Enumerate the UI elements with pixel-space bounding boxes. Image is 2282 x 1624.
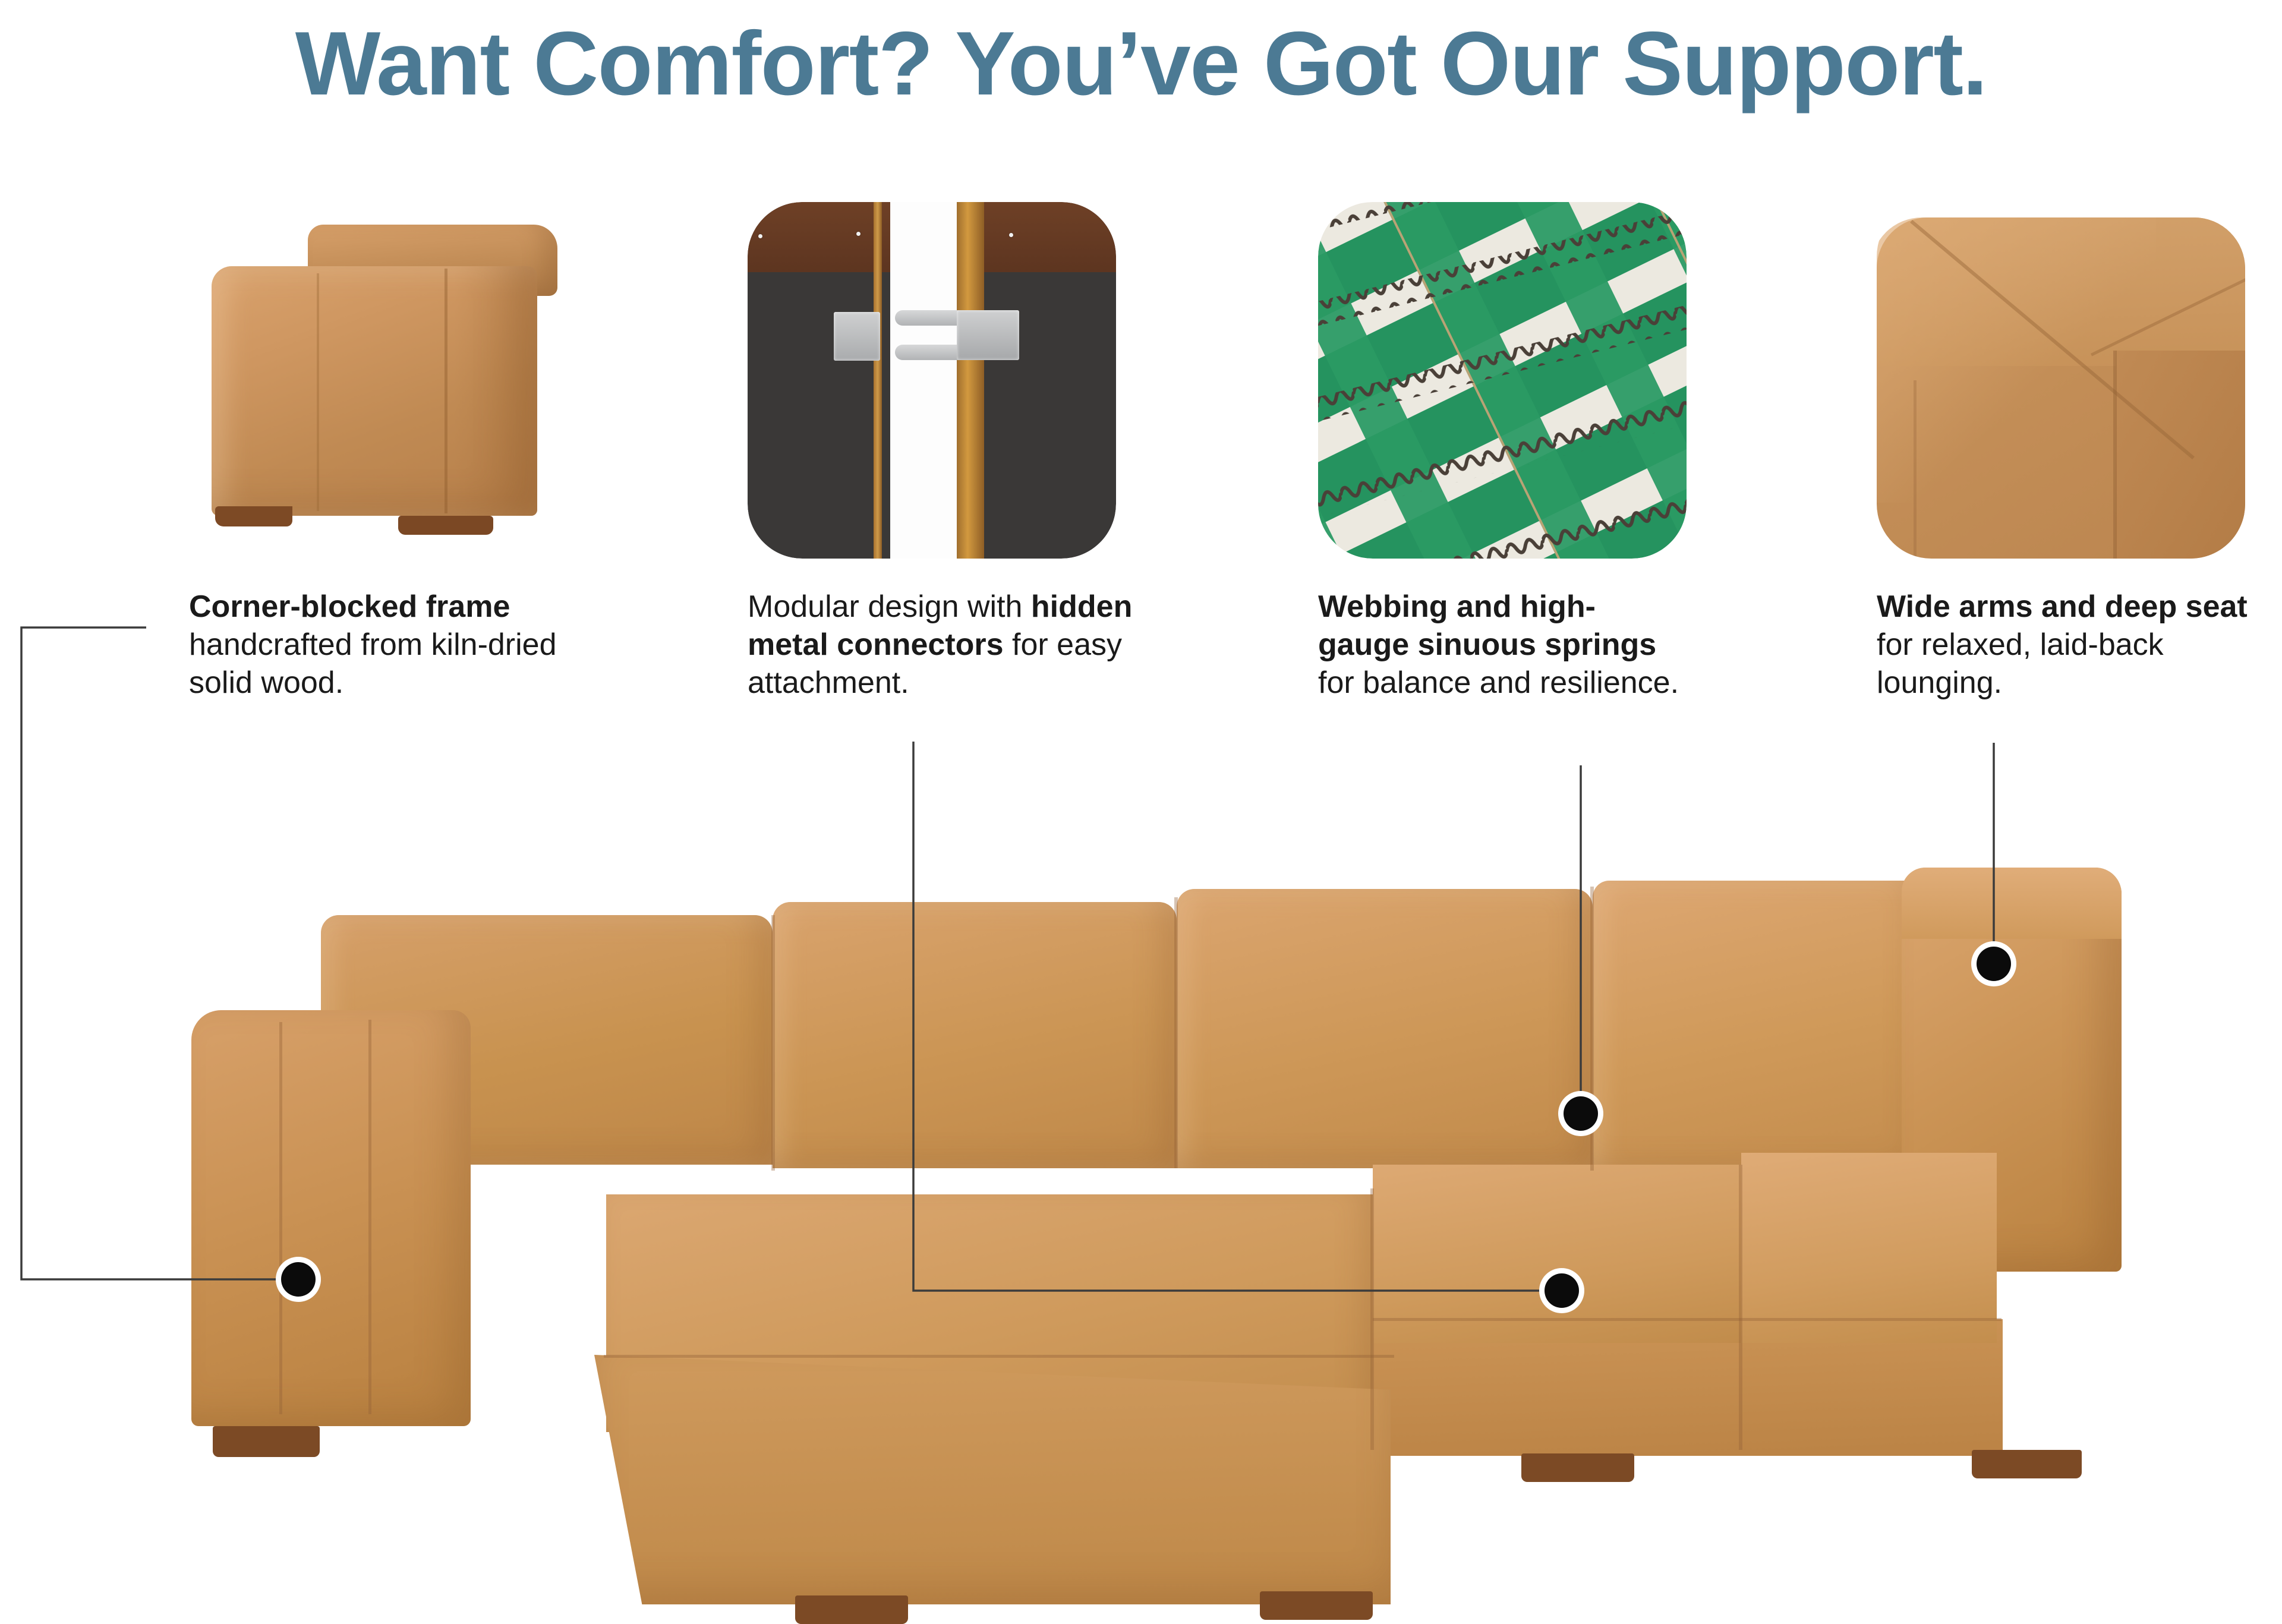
hero-sofa-image	[0, 832, 2282, 1502]
feature-thumbnail-corner-blocked-frame	[189, 202, 569, 559]
feature-thumbnail-wide-arms-deep-seat	[1877, 202, 2245, 559]
wood-edge-left	[874, 202, 882, 559]
module-seam	[1174, 897, 1178, 1168]
sofa-seat-cushion	[1373, 1165, 1741, 1343]
screw-head	[856, 232, 861, 236]
sofa-back-cushion	[1177, 889, 1593, 1168]
metal-connector-plate-left	[834, 312, 880, 361]
feature-caption-bold: Webbing and high-gauge sinuous springs	[1318, 589, 1656, 662]
metal-connector-plate-right	[957, 310, 1019, 360]
screw-head	[1009, 233, 1013, 237]
sofa-chaise-front	[594, 1355, 1391, 1604]
sofa-arm-left	[191, 1010, 471, 1426]
feature-thumbnail-hidden-metal-connectors	[748, 202, 1116, 559]
wooden-foot	[213, 1426, 320, 1457]
sofa-back-cushion	[1593, 881, 1925, 1172]
page-title: Want Comfort? You’ve Got Our Support.	[0, 17, 2282, 112]
feature-caption-rest: for relaxed, laid-back lounging.	[1877, 627, 2164, 700]
wooden-foot	[215, 506, 292, 526]
feature-caption-rest: for balance and resilience.	[1318, 666, 1679, 700]
leather-seam	[279, 1022, 282, 1414]
feature-caption-hidden-metal-connectors: Modular design with hidden metal connect…	[748, 588, 1199, 702]
feature-caption-rest: handcrafted from kiln-dried solid wood.	[189, 627, 557, 700]
module-seam	[771, 915, 775, 1171]
seat-edge-line	[1373, 1318, 2002, 1321]
screw-head	[758, 234, 762, 238]
connector-tab-upper	[895, 310, 965, 326]
leather-seam-vertical	[2113, 351, 2117, 559]
module-seam	[1739, 1165, 1742, 1450]
sofa-back-cushion	[773, 902, 1177, 1168]
sofa-seat-cushion	[1741, 1153, 1997, 1343]
seat-edge-line	[604, 1355, 1394, 1358]
feature-caption-corner-blocked-frame: Corner-blocked frame handcrafted from ki…	[189, 588, 593, 702]
feature-caption-lead: Modular design with	[748, 589, 1031, 624]
wood-edge-right	[957, 202, 984, 559]
feature-caption-webbing-and-springs: Webbing and high-gauge sinuous springs f…	[1318, 588, 1687, 702]
leather-seam	[445, 269, 447, 513]
sofa-module-body	[212, 266, 537, 516]
module-seam	[1590, 887, 1594, 1171]
wooden-foot	[795, 1595, 908, 1624]
feature-thumbnail-webbing-and-springs	[1318, 202, 1687, 559]
wood-rail-left	[748, 202, 890, 272]
wooden-foot	[1972, 1450, 2082, 1478]
feature-caption-wide-arms-deep-seat: Wide arms and deep seat for relaxed, lai…	[1877, 588, 2269, 702]
wooden-foot	[1260, 1591, 1373, 1620]
feature-caption-bold: Corner-blocked frame	[189, 589, 510, 624]
leather-seam	[317, 273, 319, 511]
wooden-foot	[1521, 1453, 1634, 1482]
sinuous-springs-diagram	[1318, 202, 1687, 559]
connector-tab-lower	[895, 345, 965, 360]
leather-seam-vertical	[1914, 380, 1917, 559]
feature-caption-bold: Wide arms and deep seat	[1877, 589, 2248, 624]
leather-seam	[368, 1020, 371, 1414]
wooden-foot	[398, 516, 493, 535]
sofa-arm-right-top	[1902, 868, 2122, 939]
